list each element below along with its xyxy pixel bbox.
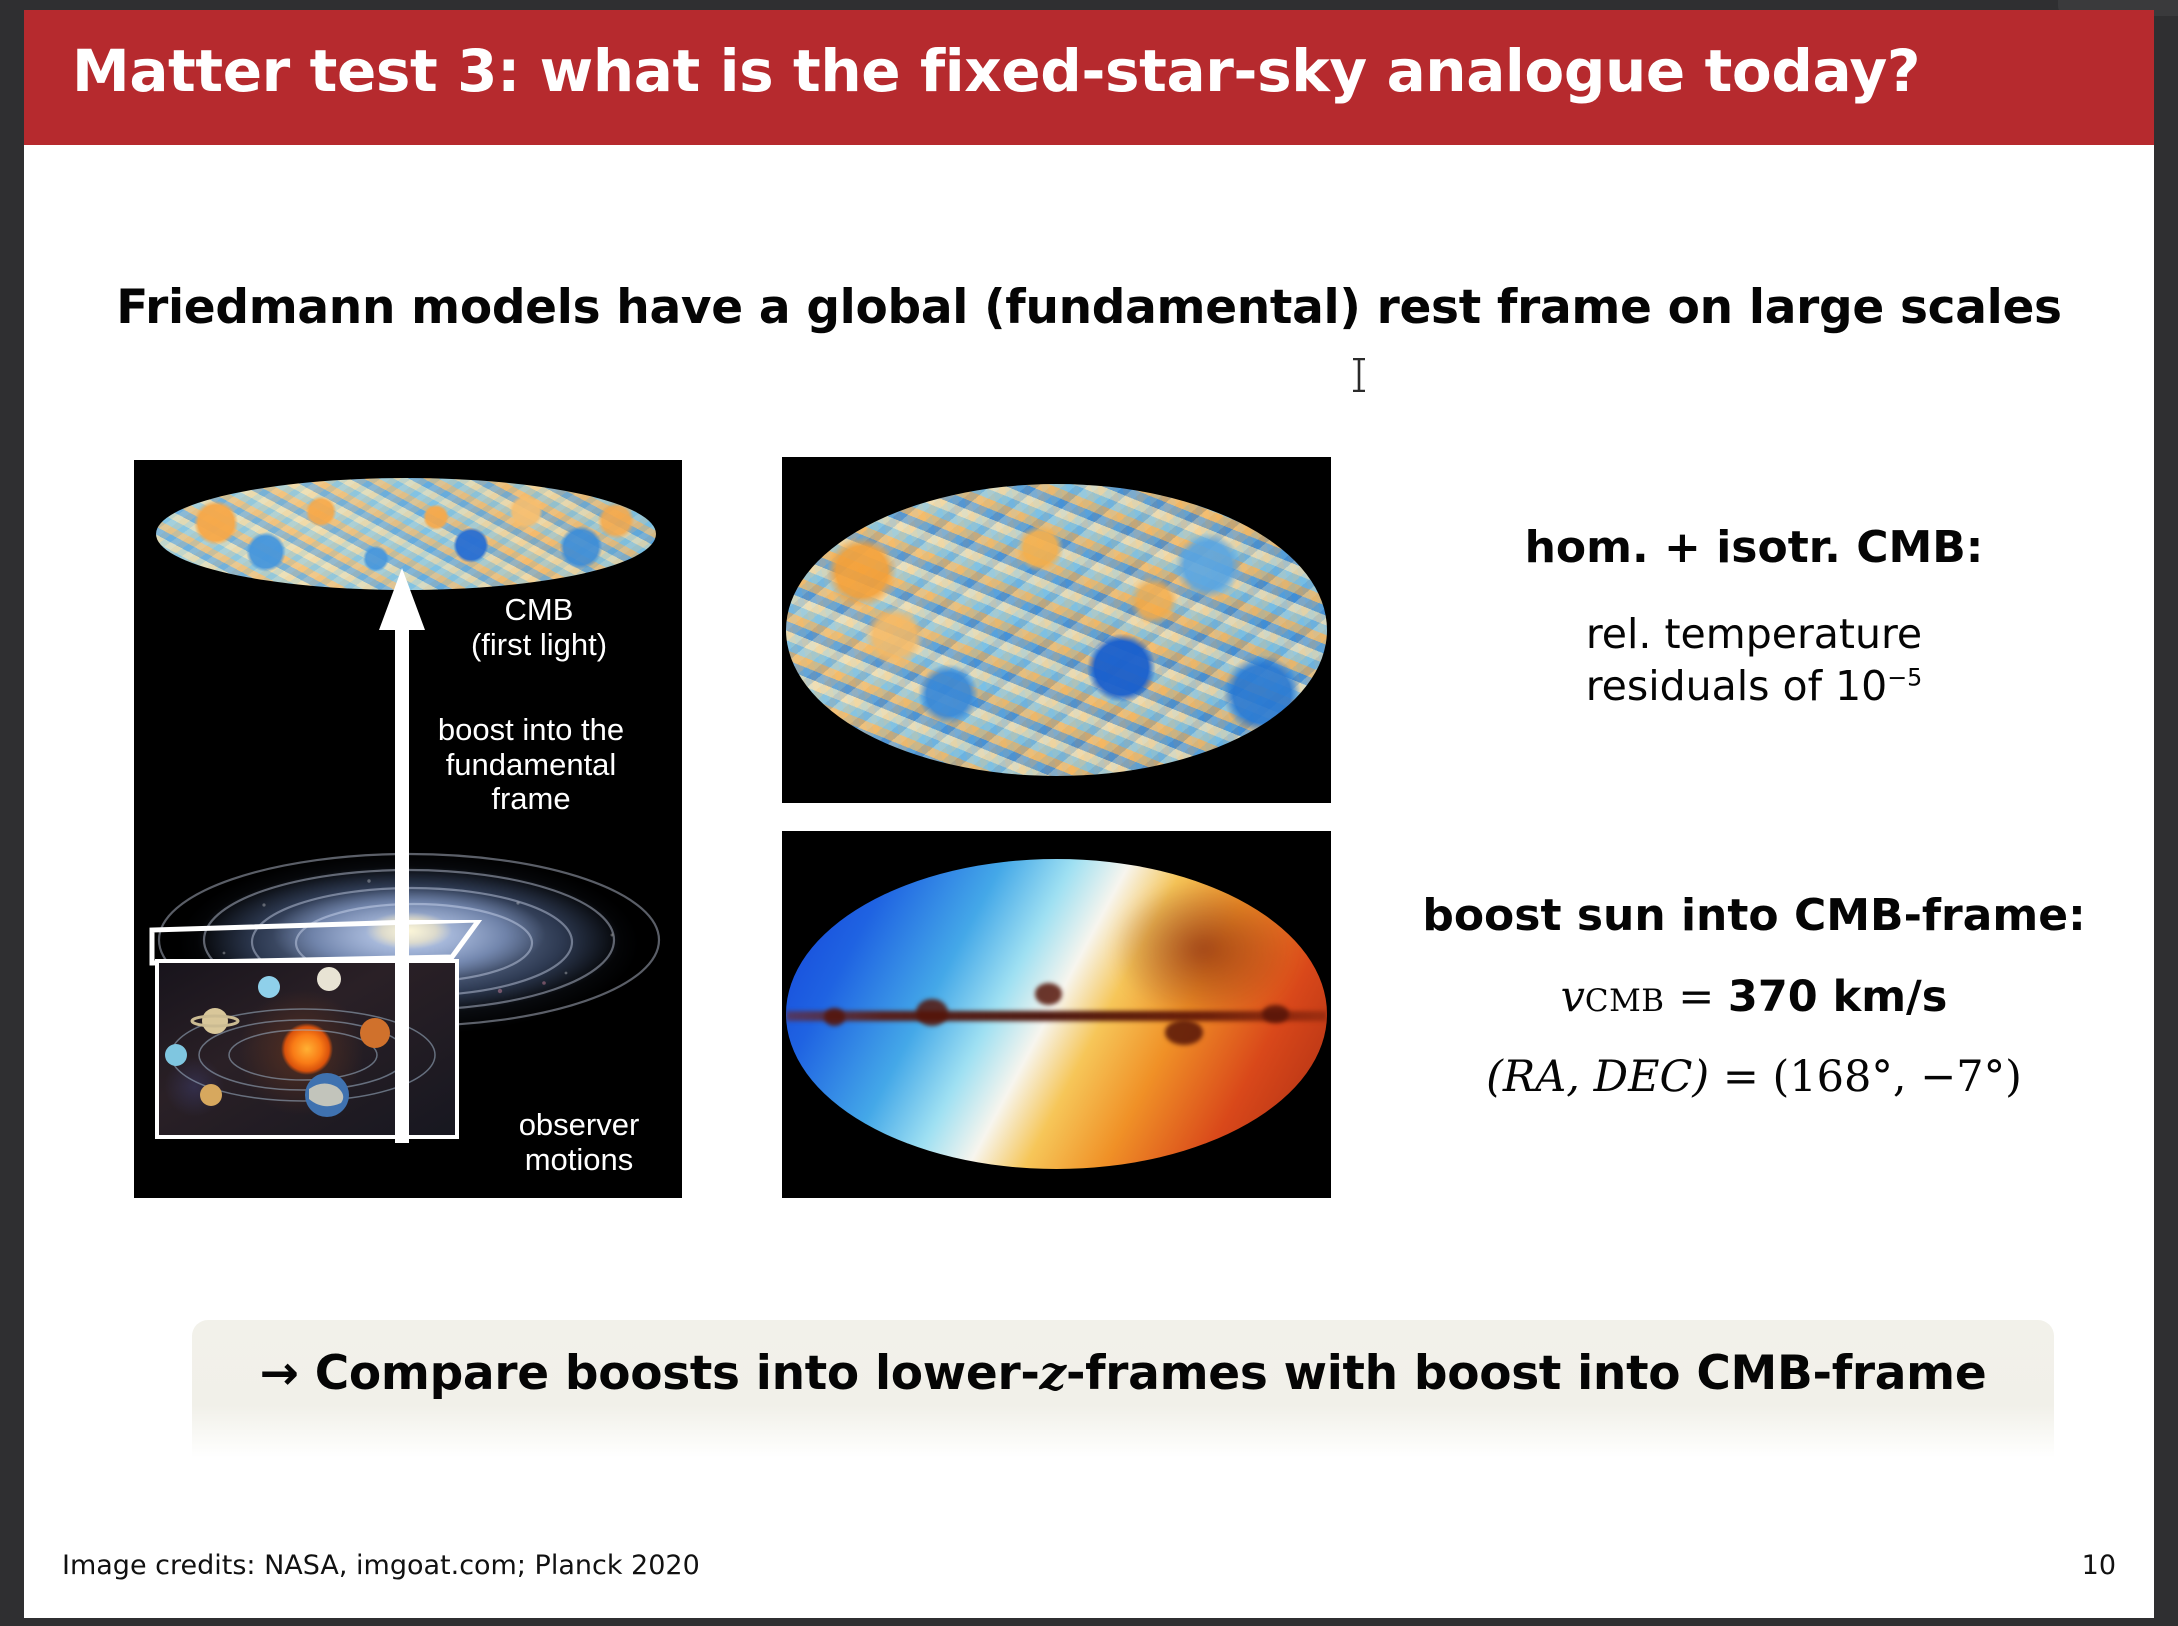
callout-box: → Compare boosts into lower-z-frames wit… bbox=[192, 1320, 2054, 1458]
velocity-symbol: v bbox=[1561, 972, 1585, 1022]
presentation-window: Matter test 3: what is the fixed-star-sk… bbox=[0, 0, 2178, 1626]
velocity-value: 370 km/s bbox=[1728, 972, 1947, 1022]
footer-page-number: 10 bbox=[2082, 1550, 2116, 1581]
galactic-plane-stripe bbox=[786, 1011, 1327, 1022]
callout-text-after-z: -frames with boost into CMB-frame bbox=[1066, 1346, 1986, 1401]
callout-arrow-icon: → bbox=[260, 1346, 299, 1401]
window-chrome-right bbox=[2154, 0, 2178, 1626]
rhs-body-line2: residuals of 10−5 bbox=[1384, 660, 2124, 712]
cmb-anisotropy-mollweide-ellipse bbox=[786, 484, 1327, 776]
figure-cmb-dipole-map bbox=[782, 831, 1331, 1198]
rhs-equation-velocity: vCMB = 370 km/s bbox=[1384, 972, 2124, 1022]
footer-image-credits: Image credits: NASA, imgoat.com; Planck … bbox=[62, 1550, 700, 1581]
galactic-blob-5 bbox=[824, 1008, 846, 1027]
callout-text-before-z: Compare boosts into lower- bbox=[299, 1346, 1040, 1401]
label-observer-line2: motions bbox=[489, 1143, 669, 1178]
text-caret-i-beam-cursor bbox=[1351, 358, 1367, 392]
label-boost-line1: boost into the bbox=[406, 713, 656, 748]
slide-title-bar: Matter test 3: what is the fixed-star-sk… bbox=[24, 10, 2154, 145]
label-cmb-first-light: CMB (first light) bbox=[434, 593, 644, 662]
rhs-body-line1: rel. temperature bbox=[1384, 608, 2124, 660]
rhs-residual-prefix: residuals of 10 bbox=[1586, 662, 1888, 710]
coords-equals: = bbox=[1723, 1052, 1759, 1102]
cmb-dipole-mollweide-ellipse bbox=[786, 859, 1327, 1169]
velocity-equals: = bbox=[1678, 972, 1714, 1022]
rhs-heading-hom-isotr-cmb: hom. + isotr. CMB: bbox=[1384, 522, 2124, 573]
rhs-residual-exponent: −5 bbox=[1887, 664, 1922, 692]
label-observer-motions: observer motions bbox=[489, 1108, 669, 1177]
coords-value: (168°, −7°) bbox=[1773, 1052, 2022, 1102]
label-cmb-line2: (first light) bbox=[434, 628, 644, 663]
boost-arrow-icon bbox=[377, 568, 427, 1143]
label-boost-line2: fundamental frame bbox=[406, 748, 656, 817]
galactic-blob-3 bbox=[1165, 1020, 1203, 1045]
slide-heading: Friedmann models have a global (fundamen… bbox=[24, 280, 2154, 335]
callout-text: → Compare boosts into lower-z-frames wit… bbox=[192, 1346, 2054, 1401]
rhs-heading-boost-sun-cmb-frame: boost sun into CMB-frame: bbox=[1384, 890, 2124, 941]
galactic-blob-1 bbox=[916, 999, 948, 1027]
label-boost-fundamental-frame: boost into the fundamental frame bbox=[406, 713, 656, 817]
rhs-equation-coordinates: (RA, DEC) = (168°, −7°) bbox=[1384, 1052, 2124, 1102]
label-observer-line1: observer bbox=[489, 1108, 669, 1143]
galactic-blob-2 bbox=[1035, 983, 1062, 1005]
label-cmb-line1: CMB bbox=[434, 593, 644, 628]
coords-label: (RA, DEC) bbox=[1486, 1052, 1709, 1102]
slide-canvas: Matter test 3: what is the fixed-star-sk… bbox=[24, 10, 2154, 1618]
callout-z-symbol: z bbox=[1040, 1346, 1066, 1401]
figure-cmb-boost-illustration: CMB (first light) boost into the fundame… bbox=[134, 460, 682, 1198]
figure-planck-cmb-anisotropy-map bbox=[782, 457, 1331, 803]
velocity-subscript: CMB bbox=[1585, 983, 1665, 1019]
rhs-body-temperature-residuals: rel. temperature residuals of 10−5 bbox=[1384, 608, 2124, 713]
slide-title: Matter test 3: what is the fixed-star-sk… bbox=[72, 37, 1920, 105]
dipole-hot-pole bbox=[1111, 878, 1295, 1021]
